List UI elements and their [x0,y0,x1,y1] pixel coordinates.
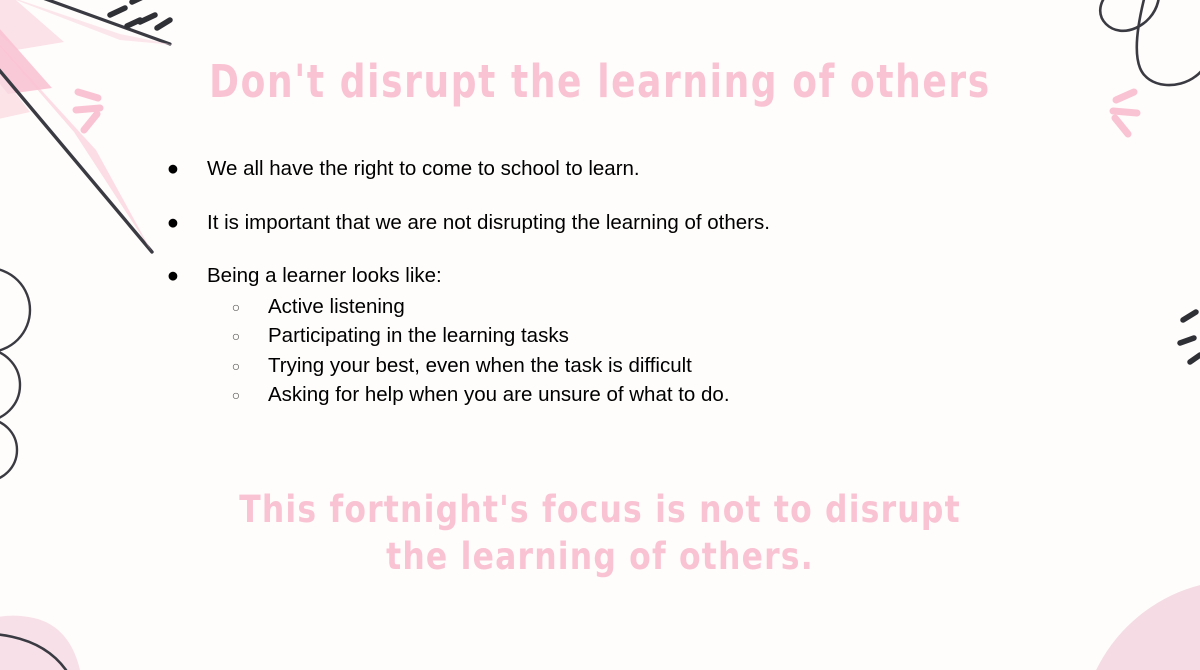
page-title: Don't disrupt the learning of others [120,58,1080,105]
sub-list-item-text: Participating in the learning tasks [268,324,569,347]
sub-list-item: ○ Active listening [207,293,1115,321]
sub-list-item-text: Trying your best, even when the task is … [268,354,692,377]
list-item-text: Being a learner looks like: [207,264,442,287]
slide-content: Don't disrupt the learning of others ● W… [0,0,1200,670]
list-item: ● We all have the right to come to schoo… [155,156,1115,182]
slide-canvas: Don't disrupt the learning of others ● W… [0,0,1200,670]
sub-list-item: ○ Participating in the learning tasks [207,322,1115,350]
sub-bullet-marker-icon: ○ [229,381,243,410]
sub-list-item-text: Active listening [268,295,405,318]
list-item: ● Being a learner looks like: ○ Active l… [155,263,1115,410]
sub-list-item-text: Asking for help when you are unsure of w… [268,383,730,406]
sub-bullet-marker-icon: ○ [229,352,243,381]
sub-bullet-marker-icon: ○ [229,322,243,351]
bullet-marker-icon: ● [165,263,181,289]
list-item: ● It is important that we are not disrup… [155,210,1115,236]
body-bullet-list: ● We all have the right to come to schoo… [155,156,1115,411]
sub-bullet-marker-icon: ○ [229,293,243,322]
bullet-marker-icon: ● [165,210,181,236]
bullet-list-level2: ○ Active listening ○ Participating in th… [207,293,1115,410]
sub-list-item: ○ Asking for help when you are unsure of… [207,381,1115,409]
bullet-marker-icon: ● [165,156,181,182]
list-item-text: We all have the right to come to school … [207,157,640,180]
focus-statement: This fortnight's focus is not to disrupt… [218,487,983,581]
list-item-text: It is important that we are not disrupti… [207,211,770,234]
sub-list-item: ○ Trying your best, even when the task i… [207,352,1115,380]
bullet-list-level1: ● We all have the right to come to schoo… [155,156,1115,410]
